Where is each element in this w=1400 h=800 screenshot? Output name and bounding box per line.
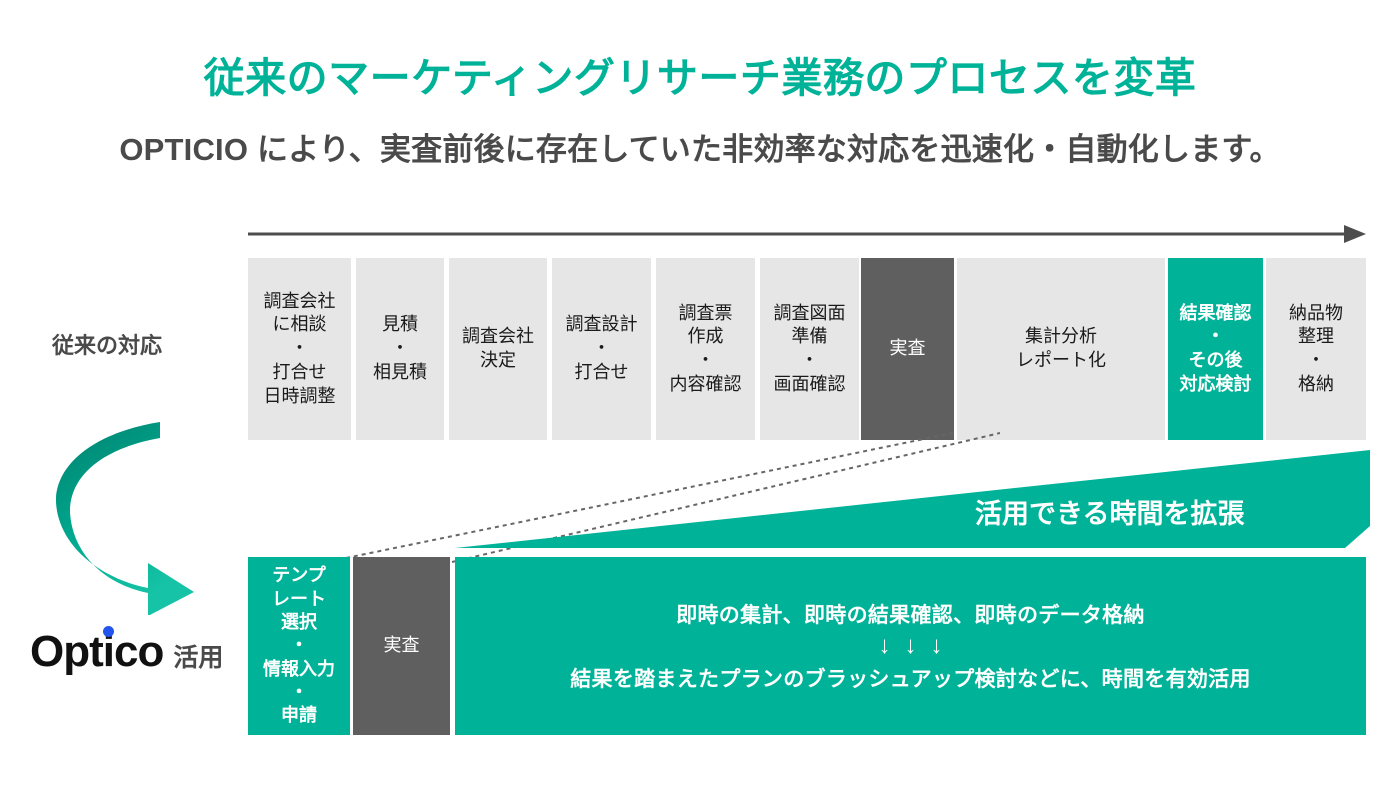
process-step-box: 調査票 作成 ・ 内容確認 <box>656 258 755 440</box>
process-step-box: 調査設計 ・ 打合せ <box>552 258 651 440</box>
curved-transition-arrow-icon <box>42 420 242 615</box>
page-title: 従来のマーケティングリサーチ業務のプロセスを変革 <box>0 44 1400 104</box>
benefit-line-2: 結果を踏まえたプランのブラッシュアップ検討などに、時間を有効活用 <box>570 663 1251 693</box>
timeline-arrow-icon <box>248 222 1366 246</box>
optico-logo-text: Optico <box>30 627 163 676</box>
process-step-box: 納品物 整理 ・ 格納 <box>1266 258 1366 440</box>
optico-logo-suffix: 活用 <box>173 638 223 674</box>
benefit-line-1: 即時の集計、即時の結果確認、即時のデータ格納 <box>676 599 1145 629</box>
time-expansion-label: 活用できる時間を拡張 <box>975 492 1244 531</box>
optico-logo-dot-icon <box>103 626 114 637</box>
process-step-box-survey: 実査 <box>861 258 954 440</box>
process-step-box: 調査会社 決定 <box>449 258 547 440</box>
optico-step-box-survey: 実査 <box>353 557 450 735</box>
page-subtitle: OPTICIO により、実査前後に存在していた非効率な対応を迅速化・自動化します… <box>0 124 1400 169</box>
benefit-panel: 即時の集計、即時の結果確認、即時のデータ格納 ↓↓↓ 結果を踏まえたプランのブラ… <box>455 557 1366 735</box>
optico-wordmark: Optico <box>30 630 163 674</box>
optico-step-box-template: テンプ レート 選択 ・ 情報入力 ・ 申請 <box>248 557 350 735</box>
legacy-process-row: 調査会社 に相談 ・ 打合せ 日時調整 見積 ・ 相見積 調査会社 決定 調査設… <box>248 258 1366 440</box>
legacy-row-label: 従来の対応 <box>52 328 162 360</box>
process-step-box: 見積 ・ 相見積 <box>356 258 444 440</box>
process-step-box: 調査図面 準備 ・ 画面確認 <box>760 258 859 440</box>
process-step-box: 集計分析 レポート化 <box>957 258 1165 440</box>
benefit-down-arrows-icon: ↓↓↓ <box>879 633 957 659</box>
process-step-box-highlight: 結果確認 ・ その後 対応検討 <box>1168 258 1263 440</box>
optico-logo: Optico 活用 <box>30 630 223 674</box>
process-step-box: 調査会社 に相談 ・ 打合せ 日時調整 <box>248 258 351 440</box>
